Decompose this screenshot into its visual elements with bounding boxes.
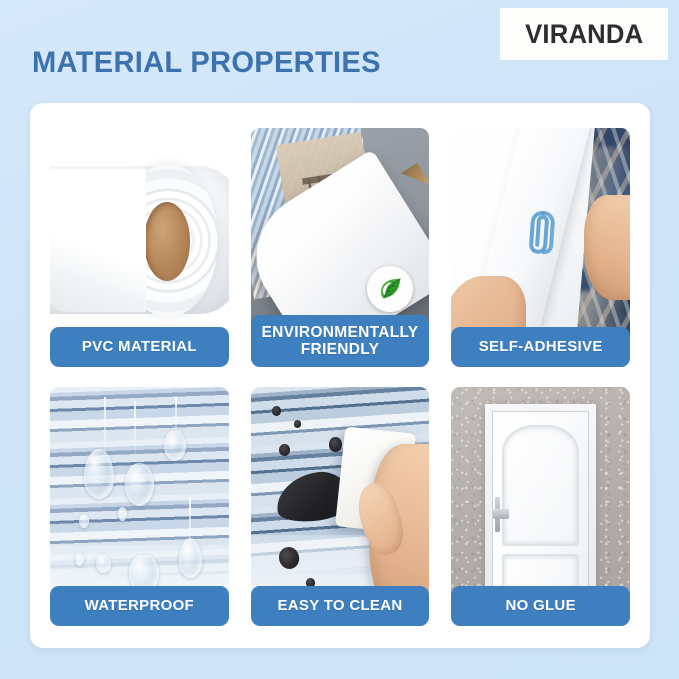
feature-label-environmentally-friendly: ENVIRONMENTALLY FRIENDLY xyxy=(251,315,430,367)
pvc-sheet xyxy=(50,169,146,312)
water-streak-2 xyxy=(134,401,136,454)
feature-label-no-glue: NO GLUE xyxy=(451,586,630,626)
pvc-cardboard-core-icon xyxy=(144,202,190,281)
door-panel-top xyxy=(502,425,579,547)
stain-2 xyxy=(294,420,301,427)
leaf-icon xyxy=(367,266,413,312)
stain-1 xyxy=(272,406,281,416)
paperclip-icon xyxy=(521,206,563,261)
brand-logo: VIRANDA xyxy=(500,8,668,60)
feature-cell-self-adhesive[interactable]: SELF-ADHESIVE xyxy=(451,128,630,367)
water-streak-1 xyxy=(104,397,106,459)
door xyxy=(492,411,588,607)
feature-label-self-adhesive: SELF-ADHESIVE xyxy=(451,327,630,367)
water-drop-8 xyxy=(118,507,127,521)
feature-cell-environmentally-friendly[interactable]: ENVIRONMENTALLY FRIENDLY xyxy=(251,128,430,367)
feature-cell-pvc-material[interactable]: PVC MATERIAL xyxy=(50,128,229,367)
feature-label-waterproof: WATERPROOF xyxy=(50,586,229,626)
features-card: PVC MATERIAL ENVIR xyxy=(30,103,650,648)
page-title: MATERIAL PROPERTIES xyxy=(32,46,381,80)
water-drop-2 xyxy=(125,463,154,506)
features-grid: PVC MATERIAL ENVIR xyxy=(50,128,630,626)
door-handle-icon xyxy=(493,509,508,519)
water-drop-3 xyxy=(164,430,185,461)
stain-4 xyxy=(329,437,342,451)
feature-cell-easy-to-clean[interactable]: EASY TO CLEAN xyxy=(251,387,430,626)
water-drop-6 xyxy=(96,554,110,573)
water-drop-7 xyxy=(75,552,84,566)
feature-cell-no-glue[interactable]: NO GLUE xyxy=(451,387,630,626)
feature-label-pvc-material: PVC MATERIAL xyxy=(50,327,229,367)
brand-logo-text: VIRANDA xyxy=(525,19,643,50)
feature-label-easy-to-clean: EASY TO CLEAN xyxy=(251,586,430,626)
water-drop-9 xyxy=(79,514,90,528)
feature-cell-waterproof[interactable]: WATERPROOF xyxy=(50,387,229,626)
